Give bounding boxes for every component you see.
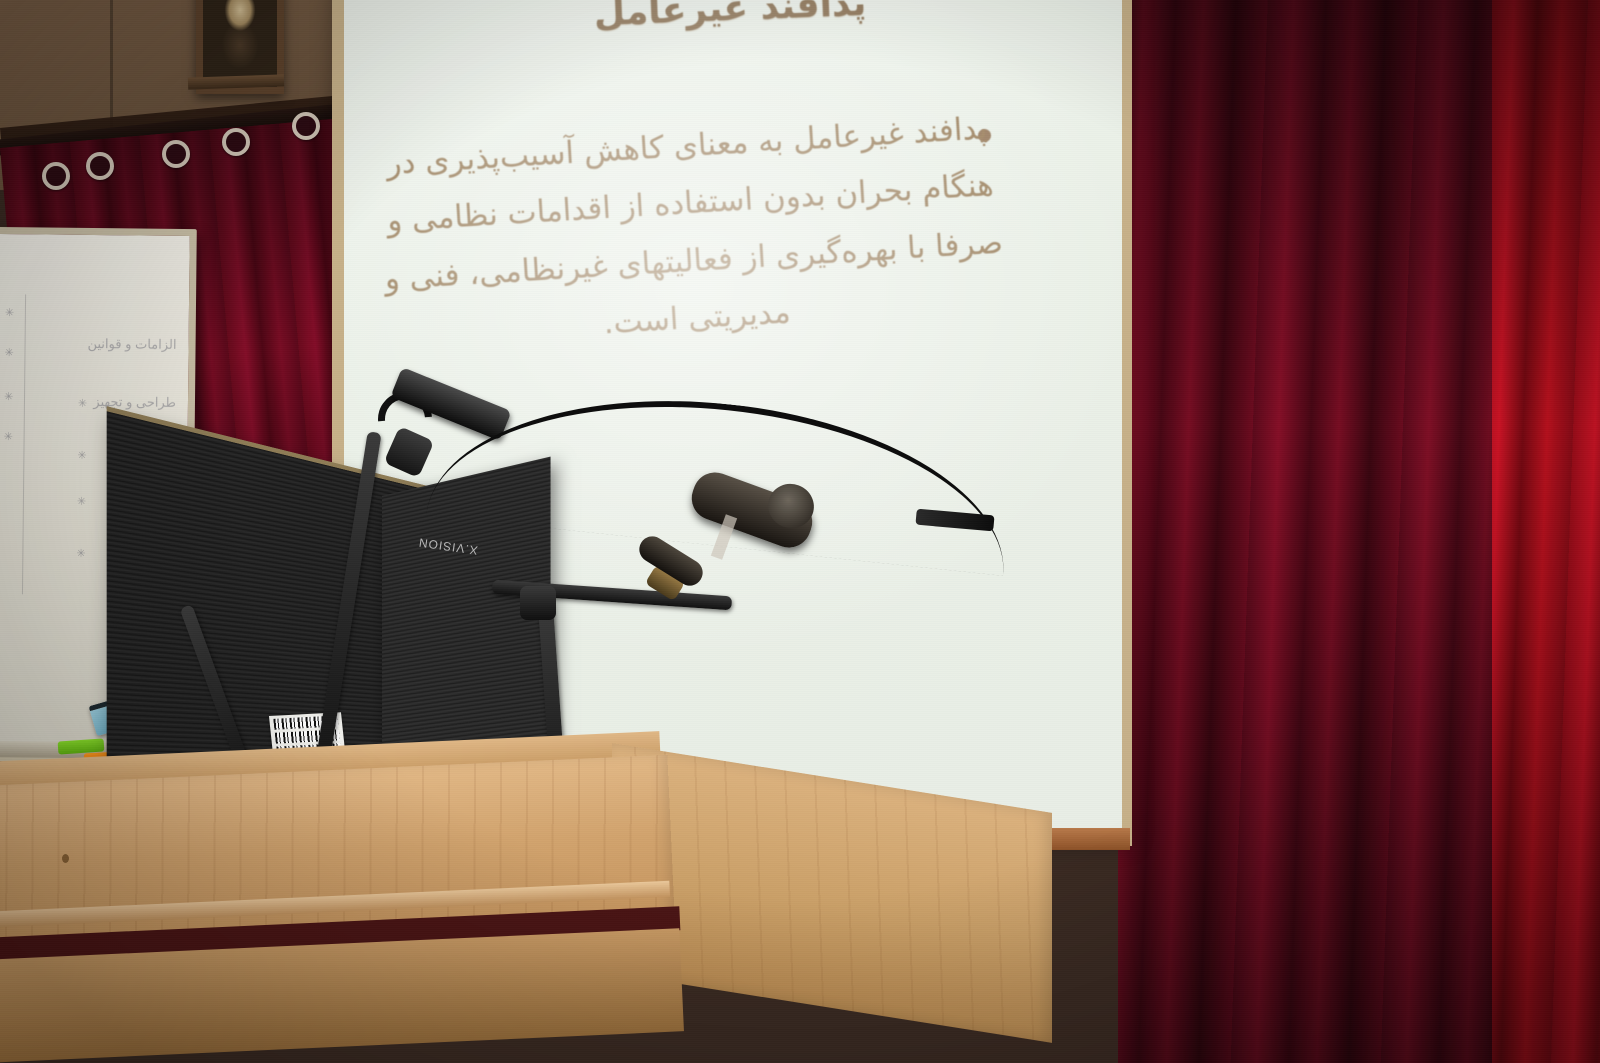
podium-screw (62, 854, 69, 863)
whiteboard-star-icon: ✳ (4, 430, 13, 443)
whiteboard-star-icon: ✳ (77, 449, 86, 462)
whiteboard-line: الزامات و قوانین (89, 337, 177, 351)
curtain-grommet-icon (86, 152, 114, 180)
whiteboard-star-icon: ✳ (78, 397, 87, 410)
curtain-grommet-icon (222, 128, 250, 156)
microphone-clamp[interactable] (520, 586, 556, 620)
curtain-grommet-icon (42, 162, 70, 190)
whiteboard-star-icon: ✳ (76, 547, 85, 560)
whiteboard-star-icon: ✳ (5, 306, 14, 319)
curtain-grommet-icon (292, 112, 320, 140)
slide-body-text: پدافند غیرعامل به معنای کاهش آسیب‌پذیری … (366, 99, 1018, 366)
speaker-person (980, 190, 1600, 1063)
curtain-grommet-icon (162, 140, 190, 168)
lecture-hall-photo: الزامات و قوانین طراحی و تجهیز فضای شهری… (0, 0, 1600, 1063)
whiteboard-star-icon: ✳ (4, 346, 13, 359)
whiteboard-line: طراحی و تجهیز (88, 395, 176, 409)
whiteboard-star-icon: ✳ (77, 495, 86, 508)
whiteboard-star-icon: ✳ (4, 390, 13, 403)
whiteboard-divider-line (22, 294, 26, 594)
